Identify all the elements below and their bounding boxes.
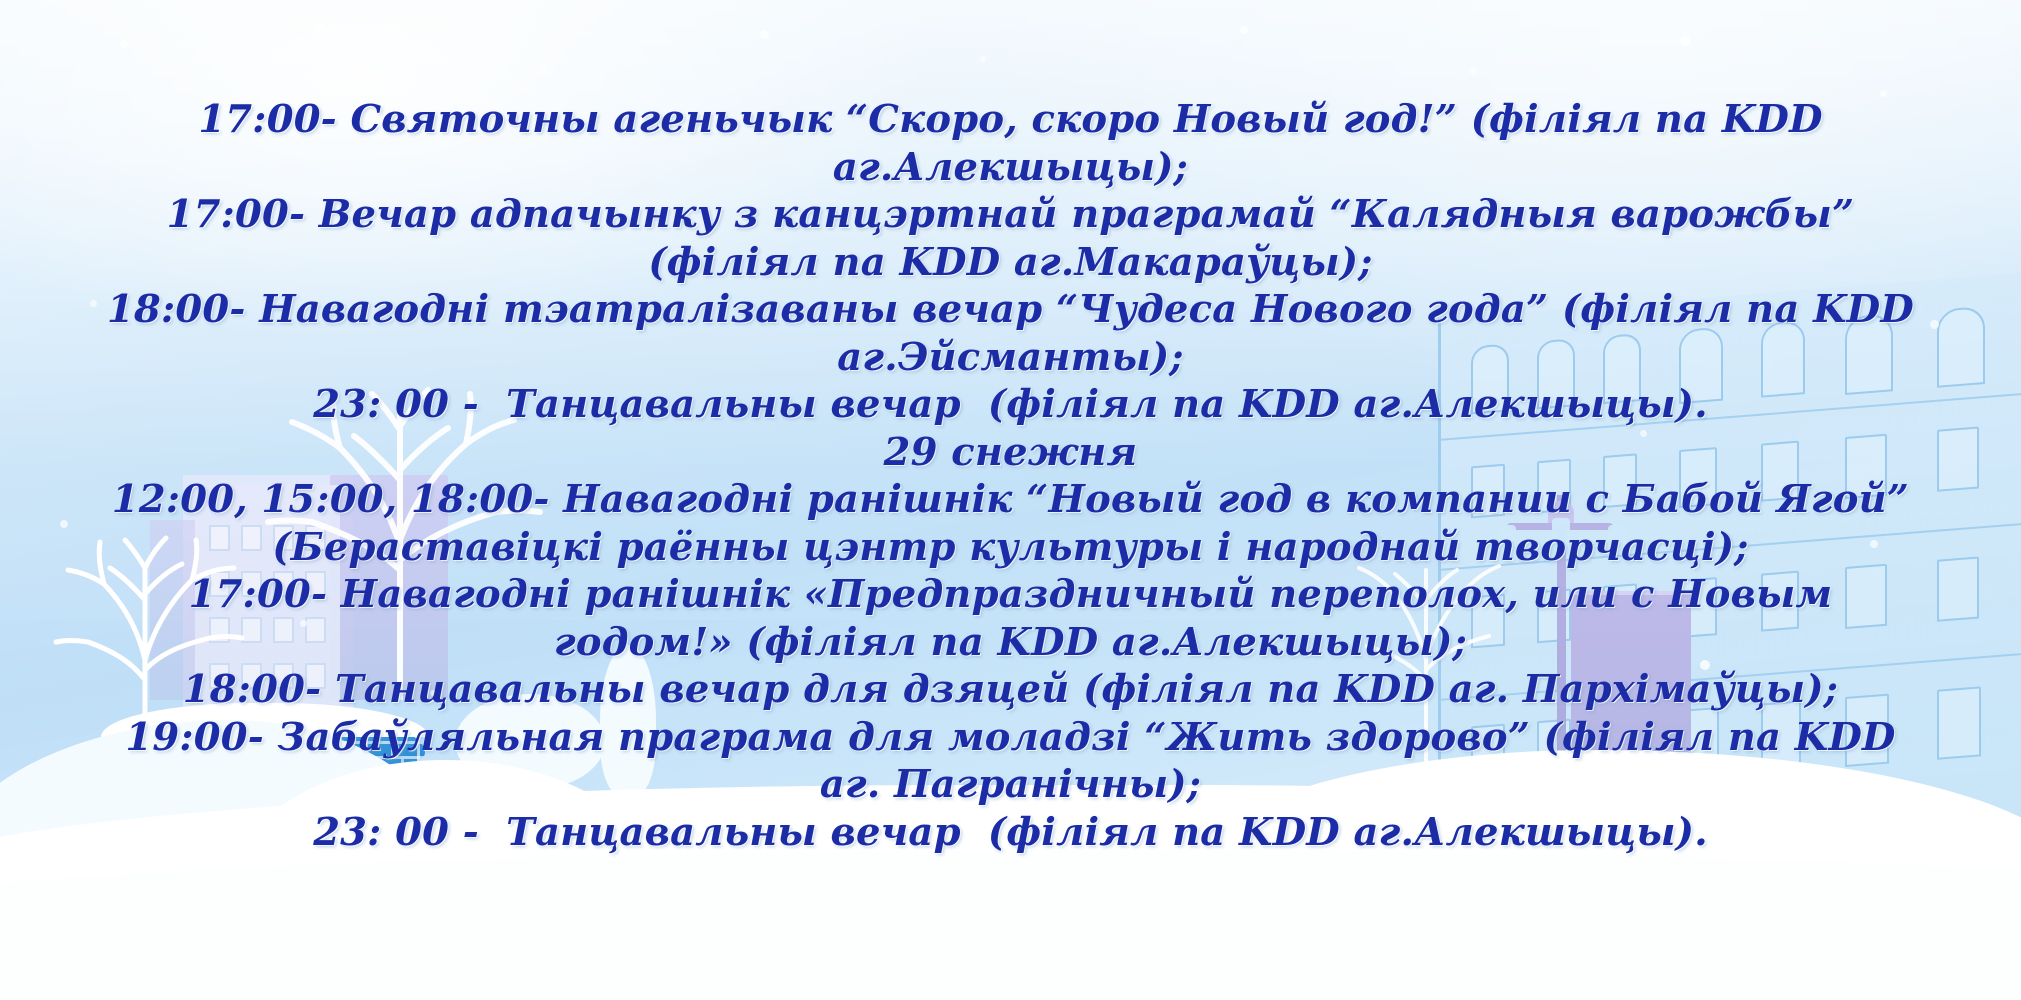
schedule-line: 19:00- Забаўляльная праграма для моладзі…: [101, 714, 1921, 809]
snow-ground-back: [0, 850, 2021, 1000]
schedule-line: 17:00- Навагодні ранішнік «Предпраздничн…: [101, 571, 1921, 666]
schedule-line: 17:00- Вечар адпачынку з канцэртнай праг…: [101, 191, 1921, 286]
schedule-text-block: 17:00- Святочны агеньчык “Скоро, скоро Н…: [0, 0, 2021, 1000]
schedule-line: 18:00- Навагодні тэатралізаваны вечар “Ч…: [101, 286, 1921, 381]
schedule-line: 18:00- Танцавальны вечар для дзяцей (філ…: [101, 666, 1921, 714]
winter-event-poster: 17:00- Святочны агеньчык “Скоро, скоро Н…: [0, 0, 2021, 1000]
schedule-line: 23: 00 - Танцавальны вечар (філіял па KD…: [101, 809, 1921, 857]
schedule-date-heading: 29 снежня: [101, 429, 1921, 477]
schedule-line: 12:00, 15:00, 18:00- Навагодні ранішнік …: [101, 476, 1921, 571]
schedule-line: 23: 00 - Танцавальны вечар (філіял па KD…: [101, 381, 1921, 429]
schedule-line: 17:00- Святочны агеньчык “Скоро, скоро Н…: [101, 96, 1921, 191]
